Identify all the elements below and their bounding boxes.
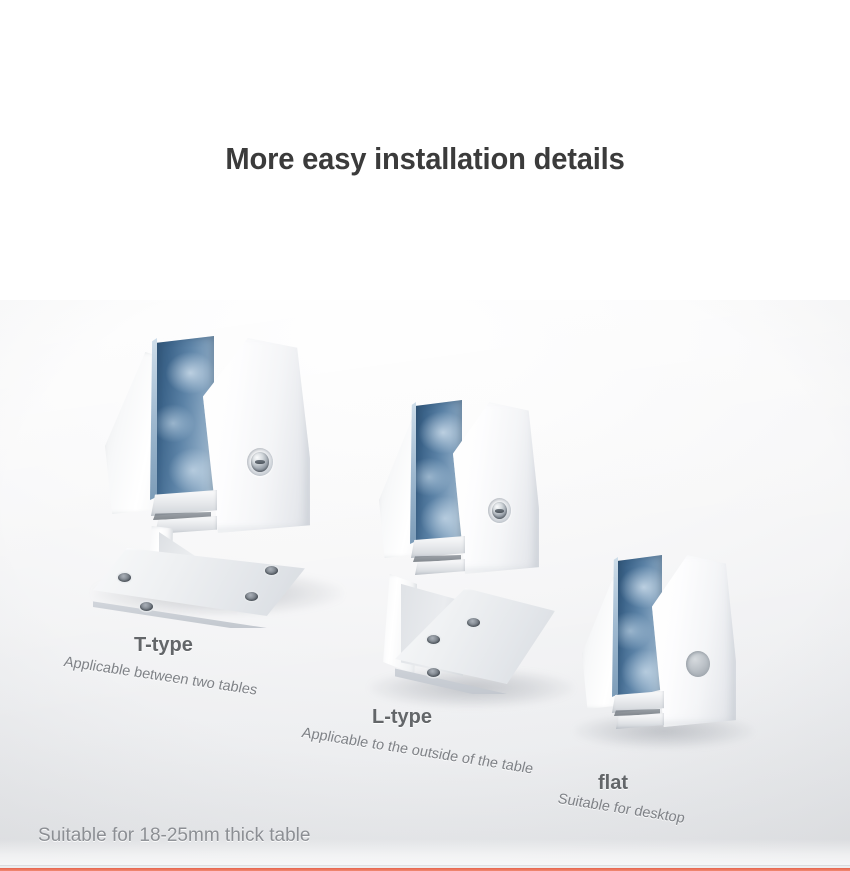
l-type-clamp-head <box>375 390 540 590</box>
accent-rule <box>0 866 850 871</box>
l-type-base-hole <box>427 668 440 677</box>
footnote-thickness: Suitable for 18-25mm thick table <box>38 825 310 847</box>
flat-screw-hole <box>686 651 710 677</box>
label-flat: flat <box>598 772 628 795</box>
caption-t-type: Applicable between two tables <box>62 654 259 698</box>
t-type-front-jaw <box>203 338 310 533</box>
caption-flat: Suitable for desktop <box>556 791 686 827</box>
product-l-type <box>375 390 560 690</box>
t-type-screw-slot <box>255 460 265 464</box>
product-flat <box>578 545 738 745</box>
flat-clamp-head <box>578 545 733 735</box>
label-l-type: L-type <box>372 706 432 729</box>
product-t-type <box>95 330 325 620</box>
t-type-base-hole <box>265 566 278 575</box>
caption-l-type: Applicable to the outside of the table <box>300 725 535 777</box>
t-type-clamp-head <box>95 330 320 545</box>
product-photo-stage: T-type Applicable between two tables L-t… <box>0 300 850 871</box>
flat-front-jaw <box>652 555 736 727</box>
l-type-front-jaw <box>453 402 539 574</box>
t-type-base-hole <box>140 602 153 611</box>
label-t-type: T-type <box>134 634 193 657</box>
l-type-acrylic-panel <box>412 400 462 548</box>
l-type-screw-slot <box>495 509 504 513</box>
t-type-base-hole <box>118 573 131 582</box>
l-type-base-hole <box>467 618 480 627</box>
t-type-base-hole <box>245 592 258 601</box>
header-section: More easy installation details <box>0 0 850 300</box>
l-type-base-hole <box>427 635 440 644</box>
page-title: More easy installation details <box>26 141 825 177</box>
t-type-acrylic-panel <box>152 336 214 504</box>
